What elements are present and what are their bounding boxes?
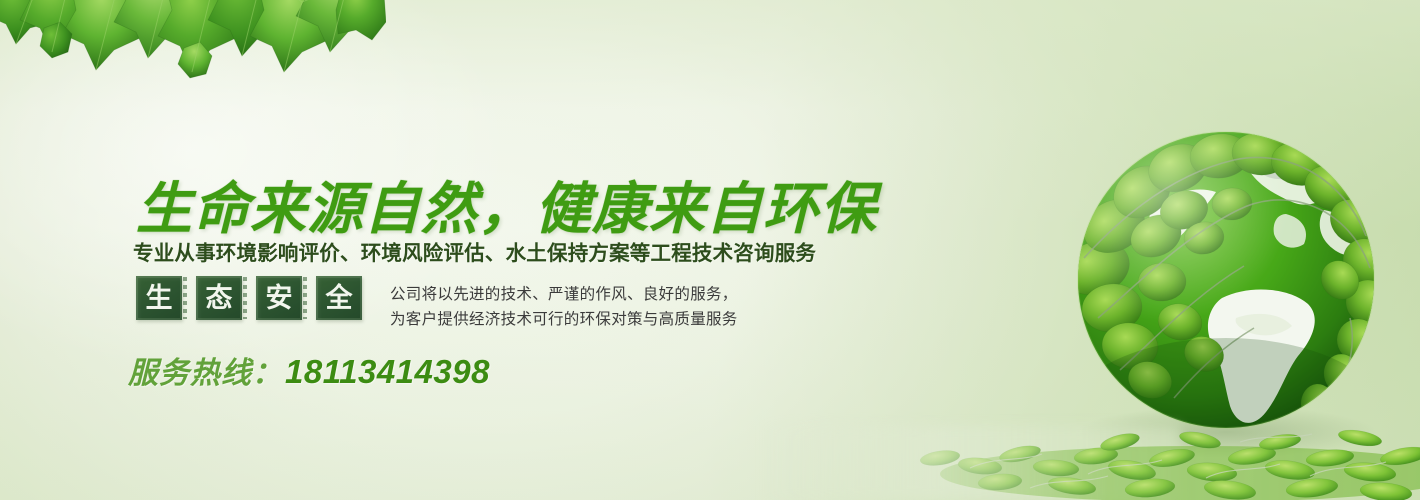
seal-badge: 安	[256, 276, 302, 320]
grass-ground-icon	[820, 408, 1420, 500]
seal-badge: 生	[136, 276, 182, 320]
service-hotline-number[interactable]: 18113414398	[285, 353, 490, 390]
seal-badge: 态	[196, 276, 242, 320]
seal-badge-group: 生 态 安 全	[136, 276, 362, 320]
page-title: 生命来源自然，健康来自环保	[136, 164, 877, 245]
seal-badge: 全	[316, 276, 362, 320]
eco-consulting-banner: 生命来源自然，健康来自环保 专业从事环境影响评价、环境风险评估、水土保持方案等工…	[0, 0, 1420, 500]
service-hotline-label: 服务热线：	[128, 357, 283, 390]
company-blurb: 公司将以先进的技术、严谨的作风、良好的服务， 为客户提供经济技术可行的环保对策与…	[390, 282, 738, 332]
banner-subtitle: 专业从事环境影响评价、环境风险评估、水土保持方案等工程技术咨询服务	[133, 236, 816, 266]
company-blurb-line-2: 为客户提供经济技术可行的环保对策与高质量服务	[390, 307, 738, 332]
service-hotline: 服务热线：18113414398	[128, 348, 490, 392]
company-blurb-line-1: 公司将以先进的技术、严谨的作风、良好的服务，	[390, 282, 738, 307]
banner-content: 生命来源自然，健康来自环保 专业从事环境影响评价、环境风险评估、水土保持方案等工…	[0, 0, 900, 500]
